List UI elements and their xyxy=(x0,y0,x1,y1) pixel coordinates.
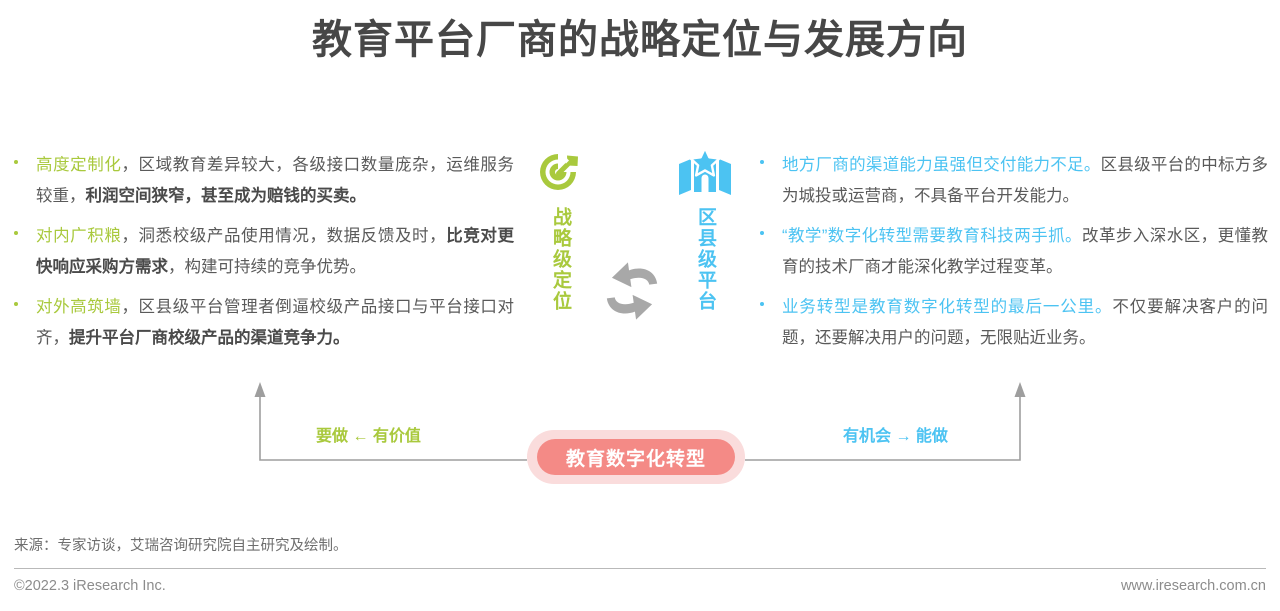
center-diagram: 战略级定位 区县级平台 xyxy=(520,145,745,380)
list-item: 对内广积粮，洞悉校级产品使用情况，数据反馈及时，比竞对更快响应采购方需求，构建可… xyxy=(14,221,514,283)
bullet-mid: ，洞悉校级产品使用情况，数据反馈及时， xyxy=(121,227,446,245)
exchange-arrows-icon xyxy=(596,255,668,327)
bullet-marker-icon xyxy=(14,221,36,235)
right-bullet-column: 地方厂商的渠道能力虽强但交付能力不足。区县级平台的中标方多为城投或运营商，不具备… xyxy=(760,150,1268,363)
list-item: “教学”数字化转型需要教育科技两手抓。改革步入深水区，更懂教育的技术厂商才能深化… xyxy=(760,221,1268,283)
list-item: 高度定制化，区域教育差异较大，各级接口数量庞杂，运维服务较重，利润空间狭窄，甚至… xyxy=(14,150,514,212)
bullet-text: 地方厂商的渠道能力虽强但交付能力不足。区县级平台的中标方多为城投或运营商，不具备… xyxy=(782,150,1268,212)
connector-label-right: 有机会 → 能做 xyxy=(843,422,948,446)
bullet-strong: 提升平台厂商校级产品的渠道竞争力。 xyxy=(69,329,350,347)
transformation-badge: 教育数字化转型 xyxy=(527,430,745,484)
list-item: 地方厂商的渠道能力虽强但交付能力不足。区县级平台的中标方多为城投或运营商，不具备… xyxy=(760,150,1268,212)
page-title: 教育平台厂商的战略定位与发展方向 xyxy=(0,16,1280,64)
bullet-text: 对内广积粮，洞悉校级产品使用情况，数据反馈及时，比竞对更快响应采购方需求，构建可… xyxy=(36,221,514,283)
copyright-text: ©2022.3 iResearch Inc. xyxy=(14,578,166,594)
bullet-marker-icon xyxy=(14,150,36,164)
bullet-lead: 地方厂商的渠道能力虽强但交付能力不足。 xyxy=(782,156,1101,174)
list-item: 业务转型是教育数字化转型的最后一公里。不仅要解决客户的问题，还要解决用户的问题，… xyxy=(760,292,1268,354)
website-url: www.iresearch.com.cn xyxy=(1121,578,1266,594)
list-item: 对外高筑墙，区县级平台管理者倒逼校级产品接口与平台接口对齐，提升平台厂商校级产品… xyxy=(14,292,514,354)
strategy-label: 战略级定位 xyxy=(546,207,574,312)
connector-label-left: 要做 ← 有价值 xyxy=(316,422,421,446)
bullet-lead: “教学”数字化转型需要教育科技两手抓。 xyxy=(782,227,1082,245)
district-platform-group: 区县级平台 xyxy=(670,145,740,317)
target-icon xyxy=(525,145,595,203)
bullet-marker-icon xyxy=(14,292,36,306)
bullet-text: 对外高筑墙，区县级平台管理者倒逼校级产品接口与平台接口对齐，提升平台厂商校级产品… xyxy=(36,292,514,354)
bullet-lead: 高度定制化 xyxy=(36,156,121,174)
strategy-positioning-group: 战略级定位 xyxy=(525,145,595,317)
platform-label: 区县级平台 xyxy=(691,207,719,312)
bullet-text: 高度定制化，区域教育差异较大，各级接口数量庞杂，运维服务较重，利润空间狭窄，甚至… xyxy=(36,150,514,212)
bullet-lead: 对外高筑墙 xyxy=(36,298,121,316)
bullet-marker-icon xyxy=(760,150,782,164)
bullet-tail: ，构建可持续的竞争优势。 xyxy=(168,258,366,276)
bullet-text: 业务转型是教育数字化转型的最后一公里。不仅要解决客户的问题，还要解决用户的问题，… xyxy=(782,292,1268,354)
bullet-lead: 对内广积粮 xyxy=(36,227,121,245)
source-note: 来源：专家访谈，艾瑞咨询研究院自主研究及绘制。 xyxy=(14,534,348,555)
bullet-marker-icon xyxy=(760,292,782,306)
badge-label: 教育数字化转型 xyxy=(537,439,735,475)
left-bullet-column: 高度定制化，区域教育差异较大，各级接口数量庞杂，运维服务较重，利润空间狭窄，甚至… xyxy=(14,150,514,363)
bullet-strong: 利润空间狭窄，甚至成为赔钱的买卖。 xyxy=(86,187,367,205)
bullet-lead: 业务转型是教育数字化转型的最后一公里。 xyxy=(782,298,1112,316)
landmark-star-icon xyxy=(670,145,740,203)
bullet-marker-icon xyxy=(760,221,782,235)
footer-divider xyxy=(14,568,1266,569)
bullet-text: “教学”数字化转型需要教育科技两手抓。改革步入深水区，更懂教育的技术厂商才能深化… xyxy=(782,221,1268,283)
